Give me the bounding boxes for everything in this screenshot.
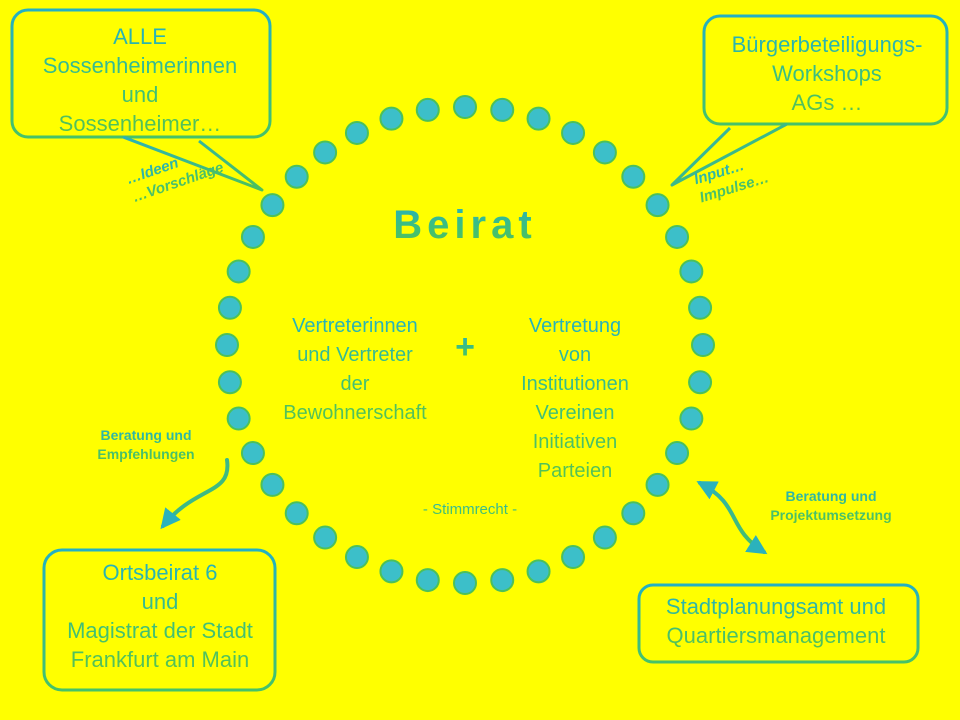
ring-dot: [594, 527, 616, 549]
ring-dot: [380, 108, 402, 130]
ring-dot: [417, 99, 439, 121]
diagram-canvas: ALLE Sossenheimerinnen und Sossenheimer……: [0, 0, 960, 720]
ring-dot: [242, 226, 264, 248]
center-column-right: Vertretung von Institutionen Vereinen In…: [484, 312, 666, 486]
ring-dot: [228, 260, 250, 282]
ring-dot: [491, 99, 513, 121]
ring-dot: [491, 569, 513, 591]
ring-dot: [219, 371, 241, 393]
ring-dot: [286, 502, 308, 524]
ring-dot: [562, 122, 584, 144]
ring-dot: [286, 166, 308, 188]
ring-dot: [380, 560, 402, 582]
ring-dot: [219, 297, 241, 319]
box-bottom-right-label: Stadtplanungsamt und Quartiersmanagement: [648, 592, 904, 650]
ring-dot: [689, 371, 711, 393]
ring-dot: [314, 141, 336, 163]
ring-dot: [622, 166, 644, 188]
ring-dot: [261, 194, 283, 216]
ring-dot: [666, 442, 688, 464]
ring-dot: [680, 260, 702, 282]
ring-dot: [314, 527, 336, 549]
center-column-left: Vertreterinnen und Vertreter der Bewohne…: [262, 312, 448, 428]
ring-dot: [346, 546, 368, 568]
ring-dot: [562, 546, 584, 568]
speech-bubble-top-right-label: Bürgerbeteiligungs- Workshops AGs …: [712, 30, 942, 117]
ring-dot: [454, 572, 476, 594]
ring-dot: [647, 194, 669, 216]
box-bottom-left-label: Ortsbeirat 6 und Magistrat der Stadt Fra…: [52, 558, 268, 674]
ring-dot: [242, 442, 264, 464]
ring-dot: [680, 408, 702, 430]
annotation-beratung-projektumsetzung: Beratung und Projektumsetzung: [742, 487, 920, 525]
ring-dot: [594, 141, 616, 163]
annotation-beratung-empfehlungen: Beratung und Empfehlungen: [62, 426, 230, 464]
ring-dot: [528, 560, 550, 582]
ring-dot: [689, 297, 711, 319]
ring-dot: [261, 474, 283, 496]
ring-dot: [228, 408, 250, 430]
ring-dot: [417, 569, 439, 591]
speech-bubble-top-left-label: ALLE Sossenheimerinnen und Sossenheimer…: [22, 22, 258, 138]
arrow-beratung-empfehlungen: [163, 460, 227, 526]
ring-dot: [622, 502, 644, 524]
center-footnote-stimmrecht: - Stimmrecht -: [385, 500, 555, 520]
ring-dot: [666, 226, 688, 248]
center-title-beirat: Beirat: [290, 203, 640, 247]
ring-dot: [216, 334, 238, 356]
ring-dot: [346, 122, 368, 144]
ring-dot: [528, 108, 550, 130]
ring-dot: [454, 96, 476, 118]
plus-icon: +: [443, 330, 487, 364]
ring-dot: [692, 334, 714, 356]
